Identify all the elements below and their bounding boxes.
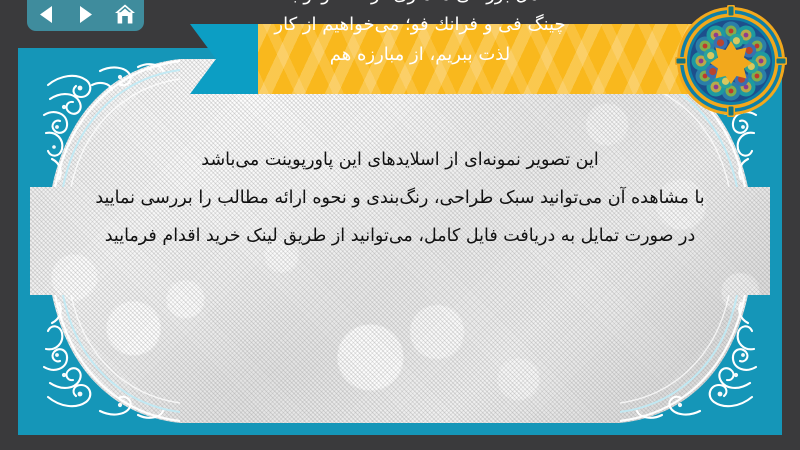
home-icon	[114, 4, 136, 25]
banner-tail-shape	[190, 24, 262, 94]
body-line-1: این تصویر نمونه‌ای از اسلایدهای این پاور…	[60, 141, 740, 179]
back-triangle-icon	[38, 5, 55, 24]
body-line-2: با مشاهده آن می‌توانید سبک طراحی، رنگ‌بن…	[60, 179, 740, 217]
slide-body-text: این تصویر نمونه‌ای از اسلایدهای این پاور…	[60, 141, 740, 255]
back-button[interactable]	[32, 1, 62, 27]
arabesque-corner-bottom-left-icon	[30, 295, 180, 423]
persian-rosette-medallion-icon	[675, 5, 787, 117]
title-line-1: کامل بررسی معماری در گفت‌وگو با	[205, 0, 635, 10]
forward-triangle-icon	[77, 5, 94, 24]
slide-frame: این تصویر نمونه‌ای از اسلایدهای این پاور…	[18, 48, 782, 435]
slide-canvas: این تصویر نمونه‌ای از اسلایدهای این پاور…	[30, 59, 770, 423]
arabesque-corner-bottom-right-icon	[620, 295, 770, 423]
body-line-3: در صورت تمایل به دریافت فایل کامل، می‌تو…	[60, 217, 740, 255]
navigation-toolbar	[27, 0, 144, 31]
title-banner	[190, 24, 710, 94]
slide-viewer: این تصویر نمونه‌ای از اسلایدهای این پاور…	[0, 0, 800, 450]
banner-body-shape	[258, 24, 710, 94]
forward-button[interactable]	[71, 1, 101, 27]
home-button[interactable]	[110, 1, 140, 27]
